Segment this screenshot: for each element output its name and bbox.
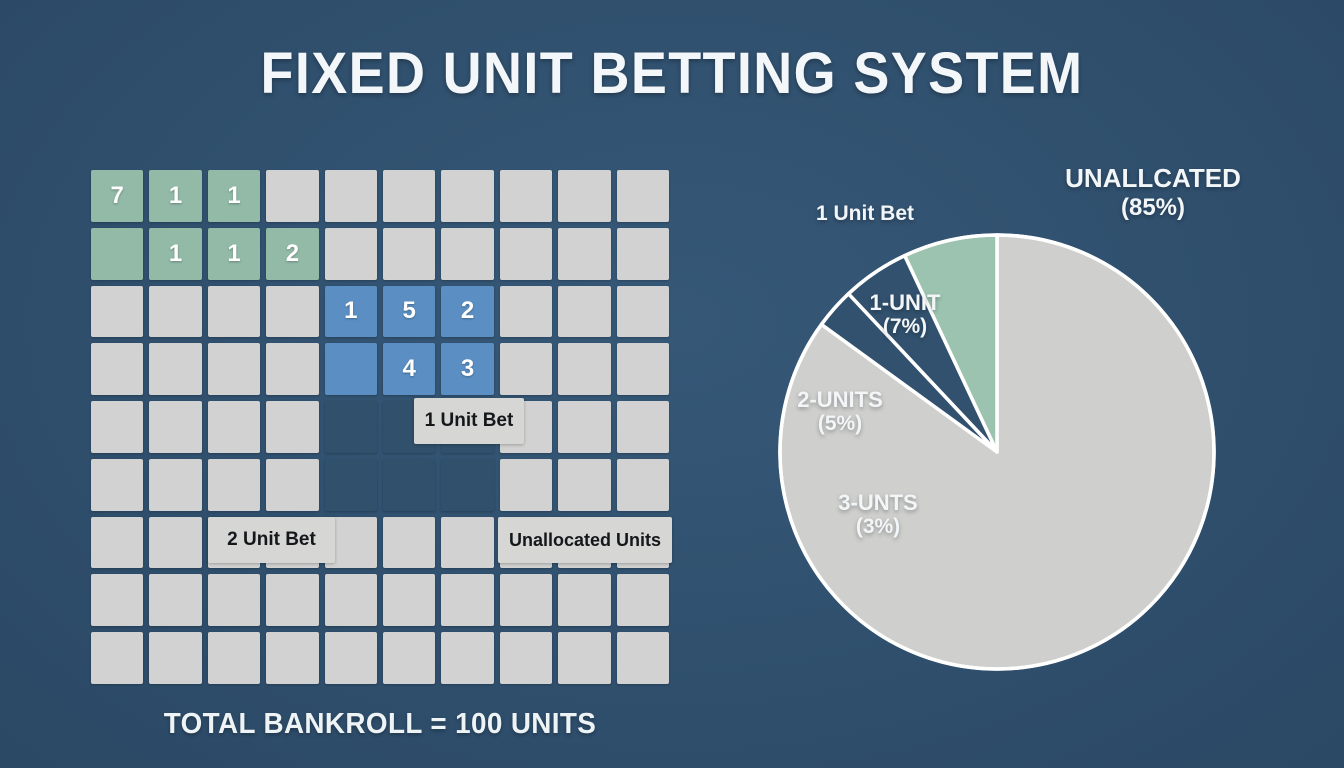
bankroll-grid-cells: 711112152433 <box>88 167 672 687</box>
grid-cell <box>441 170 493 222</box>
grid-label-two-unit-bet: 2 Unit Bet <box>208 517 335 563</box>
grid-cell <box>441 517 493 569</box>
grid-cell <box>558 459 610 511</box>
grid-cell <box>558 632 610 684</box>
grid-label-one-unit-bet: 1 Unit Bet <box>414 398 524 444</box>
grid-cell <box>617 401 669 453</box>
page-title: FIXED UNIT BETTING SYSTEM <box>47 40 1297 107</box>
grid-cell <box>441 632 493 684</box>
grid-cell <box>91 343 143 395</box>
grid-cell <box>558 286 610 338</box>
infographic-canvas: FIXED UNIT BETTING SYSTEM 711112152433 1… <box>0 0 1344 768</box>
grid-cell <box>558 574 610 626</box>
grid-cell <box>383 459 435 511</box>
grid-cell <box>558 401 610 453</box>
grid-cell <box>266 170 318 222</box>
grid-cell <box>500 228 552 280</box>
grid-cell <box>91 574 143 626</box>
grid-cell <box>208 574 260 626</box>
grid-cell <box>266 286 318 338</box>
grid-cell: 1 <box>149 228 201 280</box>
grid-cell <box>149 517 201 569</box>
grid-cell <box>91 286 143 338</box>
grid-cell <box>149 632 201 684</box>
grid-cell <box>208 286 260 338</box>
grid-cell <box>91 517 143 569</box>
grid-cell <box>441 574 493 626</box>
grid-cell: 1 <box>208 228 260 280</box>
grid-cell <box>325 574 377 626</box>
bankroll-grid: 711112152433 1 Unit Bet 2 Unit Bet Unall… <box>88 167 672 687</box>
grid-cell <box>149 574 201 626</box>
grid-cell <box>91 632 143 684</box>
grid-label-unallocated-units: Unallocated Units <box>498 517 672 563</box>
total-bankroll-caption: TOTAL BANKROLL = 100 UNITS <box>100 708 661 741</box>
grid-cell <box>325 343 377 395</box>
grid-cell <box>617 170 669 222</box>
grid-cell <box>208 343 260 395</box>
grid-cell <box>325 459 377 511</box>
grid-cell <box>500 170 552 222</box>
grid-cell <box>441 228 493 280</box>
grid-cell <box>558 343 610 395</box>
grid-cell <box>441 459 493 511</box>
pie-svg <box>740 150 1300 710</box>
grid-cell <box>383 632 435 684</box>
grid-cell <box>500 286 552 338</box>
grid-cell <box>617 632 669 684</box>
grid-cell <box>149 286 201 338</box>
grid-cell <box>266 459 318 511</box>
grid-cell: 5 <box>383 286 435 338</box>
allocation-pie-chart: 1 Unit Bet UNALLCATED (85%) 1-UNIT (7%) … <box>740 150 1300 710</box>
grid-cell: 1 <box>208 170 260 222</box>
grid-cell: 4 <box>383 343 435 395</box>
grid-cell: 2 <box>441 286 493 338</box>
grid-cell <box>91 459 143 511</box>
grid-cell <box>617 574 669 626</box>
grid-cell <box>266 401 318 453</box>
grid-cell: 7 <box>91 170 143 222</box>
pie-slice-group <box>780 235 1214 669</box>
grid-cell: 2 <box>266 228 318 280</box>
grid-cell <box>266 343 318 395</box>
grid-cell <box>325 632 377 684</box>
grid-cell <box>383 574 435 626</box>
grid-cell <box>91 401 143 453</box>
grid-cell <box>500 632 552 684</box>
grid-cell <box>266 632 318 684</box>
grid-cell <box>558 170 610 222</box>
grid-cell <box>208 401 260 453</box>
grid-cell: 3 <box>441 343 493 395</box>
grid-cell <box>500 459 552 511</box>
grid-cell <box>383 170 435 222</box>
grid-cell: 1 <box>149 170 201 222</box>
grid-cell <box>325 228 377 280</box>
grid-cell <box>266 574 318 626</box>
grid-cell <box>91 228 143 280</box>
grid-cell <box>500 574 552 626</box>
grid-cell <box>325 401 377 453</box>
grid-cell <box>617 286 669 338</box>
grid-cell <box>325 170 377 222</box>
grid-cell <box>149 401 201 453</box>
grid-cell <box>617 228 669 280</box>
grid-cell <box>208 632 260 684</box>
grid-cell: 1 <box>325 286 377 338</box>
grid-cell <box>617 343 669 395</box>
grid-cell <box>149 459 201 511</box>
grid-cell <box>558 228 610 280</box>
grid-cell <box>208 459 260 511</box>
grid-cell <box>383 228 435 280</box>
grid-cell <box>500 343 552 395</box>
grid-cell <box>617 459 669 511</box>
grid-cell <box>149 343 201 395</box>
grid-cell <box>383 517 435 569</box>
